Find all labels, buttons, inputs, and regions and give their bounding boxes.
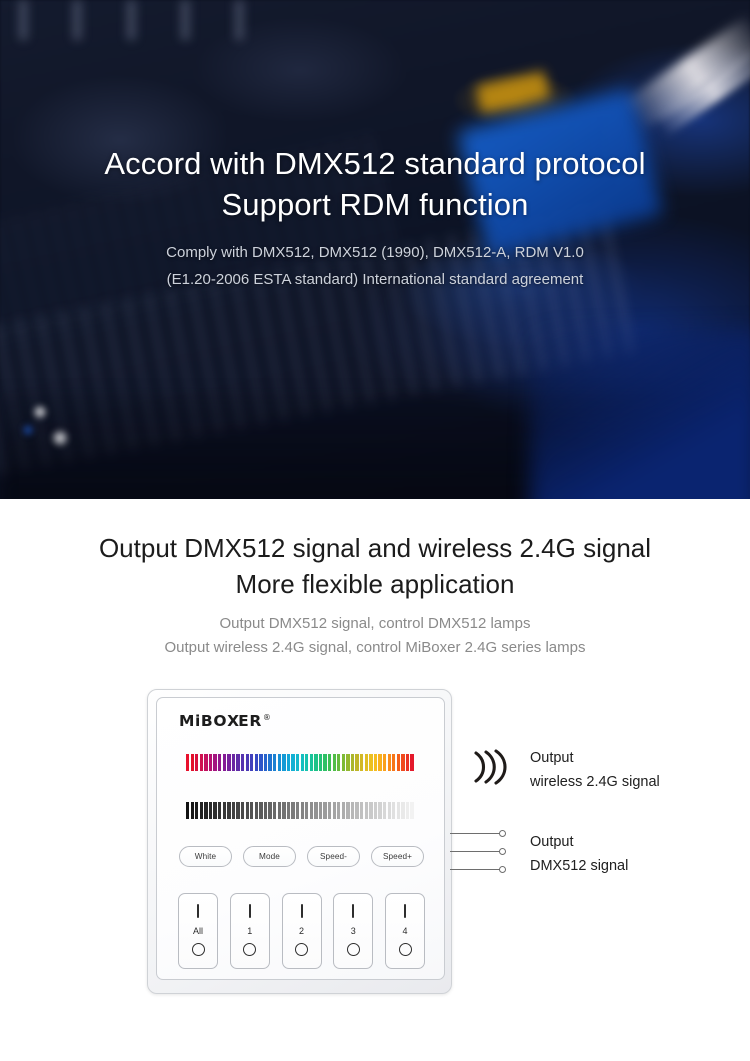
zone-button-row: All 1 2 [178, 893, 425, 969]
brightness-swatch[interactable] [232, 802, 235, 819]
color-swatch[interactable] [392, 754, 395, 771]
brightness-swatch[interactable] [264, 802, 267, 819]
brightness-swatch[interactable] [360, 802, 363, 819]
speed-down-button[interactable]: Speed- [307, 846, 360, 867]
power-off-circle-icon [243, 943, 256, 956]
brightness-swatch[interactable] [301, 802, 304, 819]
brightness-swatch[interactable] [259, 802, 262, 819]
callout-wireless-line-2: wireless 2.4G signal [530, 770, 660, 794]
section2-subtitle: Output DMX512 signal, control DMX512 lam… [0, 612, 750, 660]
wireless-signal-icon [470, 747, 512, 787]
color-swatch[interactable] [191, 754, 194, 771]
color-swatch[interactable] [250, 754, 253, 771]
zone-button-1[interactable]: 1 [230, 893, 270, 969]
color-swatch[interactable] [264, 754, 267, 771]
color-swatch[interactable] [282, 754, 285, 771]
hero-title: Accord with DMX512 standard protocol Sup… [0, 143, 750, 225]
color-swatch[interactable] [186, 754, 189, 771]
color-swatch[interactable] [287, 754, 290, 771]
color-swatch[interactable] [328, 754, 331, 771]
brightness-swatch[interactable] [328, 802, 331, 819]
brightness-swatch[interactable] [195, 802, 198, 819]
zone-label-4: 4 [402, 926, 407, 936]
color-swatch[interactable] [241, 754, 244, 771]
callout-wireless-output: Output wireless 2.4G signal [530, 746, 660, 794]
power-off-circle-icon [192, 943, 205, 956]
brightness-selection-strip[interactable] [186, 802, 415, 819]
hero-text-block: Accord with DMX512 standard protocol Sup… [0, 0, 750, 293]
color-swatch[interactable] [406, 754, 409, 771]
brightness-swatch[interactable] [351, 802, 354, 819]
color-selection-strip[interactable] [186, 754, 415, 771]
hero-indicator-lights [18, 400, 88, 455]
color-swatch[interactable] [278, 754, 281, 771]
brightness-swatch[interactable] [406, 802, 409, 819]
product-page: Accord with DMX512 standard protocol Sup… [0, 0, 750, 1061]
dmx-wire-connectors [450, 829, 520, 885]
color-swatch[interactable] [227, 754, 230, 771]
brightness-swatch[interactable] [337, 802, 340, 819]
color-swatch[interactable] [273, 754, 276, 771]
white-button[interactable]: White [179, 846, 232, 867]
color-swatch[interactable] [314, 754, 317, 771]
brightness-swatch[interactable] [282, 802, 285, 819]
color-swatch[interactable] [365, 754, 368, 771]
brightness-swatch[interactable] [401, 802, 404, 819]
color-swatch[interactable] [268, 754, 271, 771]
brightness-swatch[interactable] [392, 802, 395, 819]
color-swatch[interactable] [355, 754, 358, 771]
dmx-wire-2 [450, 851, 500, 852]
power-on-bar-icon [301, 904, 303, 918]
speed-up-button-label: Speed+ [383, 852, 412, 861]
callout-dmx-line-2: DMX512 signal [530, 854, 628, 878]
brightness-swatch[interactable] [209, 802, 212, 819]
color-swatch[interactable] [291, 754, 294, 771]
color-swatch[interactable] [213, 754, 216, 771]
device-diagram: MiBOXER® White Mode Speed- Speed+ All [0, 689, 750, 1009]
brightness-swatch[interactable] [186, 802, 189, 819]
brightness-swatch[interactable] [227, 802, 230, 819]
color-swatch[interactable] [383, 754, 386, 771]
brightness-swatch[interactable] [342, 802, 345, 819]
color-swatch[interactable] [410, 754, 413, 771]
dmx-wire-3 [450, 869, 500, 870]
callout-wireless-line-1: Output [530, 746, 660, 770]
miboxer-wall-panel: MiBOXER® White Mode Speed- Speed+ All [147, 689, 452, 994]
miboxer-logo: MiBOXER® [179, 712, 271, 730]
zone-button-4[interactable]: 4 [385, 893, 425, 969]
section2-subtitle-line-2: Output wireless 2.4G signal, control MiB… [164, 639, 585, 656]
output-signal-section: Output DMX512 signal and wireless 2.4G s… [0, 499, 750, 1061]
section2-title-line-1: Output DMX512 signal and wireless 2.4G s… [99, 533, 651, 563]
color-swatch[interactable] [232, 754, 235, 771]
function-button-row: White Mode Speed- Speed+ [179, 846, 424, 867]
brightness-swatch[interactable] [383, 802, 386, 819]
color-swatch[interactable] [296, 754, 299, 771]
color-swatch[interactable] [369, 754, 372, 771]
color-swatch[interactable] [397, 754, 400, 771]
color-swatch[interactable] [401, 754, 404, 771]
color-swatch[interactable] [195, 754, 198, 771]
brightness-swatch[interactable] [255, 802, 258, 819]
speed-up-button[interactable]: Speed+ [371, 846, 424, 867]
brightness-swatch[interactable] [305, 802, 308, 819]
power-on-bar-icon [197, 904, 199, 918]
color-swatch[interactable] [346, 754, 349, 771]
brightness-swatch[interactable] [355, 802, 358, 819]
color-swatch[interactable] [246, 754, 249, 771]
white-button-label: White [195, 852, 216, 861]
section2-subtitle-line-1: Output DMX512 signal, control DMX512 lam… [220, 615, 531, 632]
color-swatch[interactable] [218, 754, 221, 771]
brightness-swatch[interactable] [278, 802, 281, 819]
brightness-swatch[interactable] [319, 802, 322, 819]
brightness-swatch[interactable] [397, 802, 400, 819]
brightness-swatch[interactable] [296, 802, 299, 819]
brightness-swatch[interactable] [314, 802, 317, 819]
brightness-swatch[interactable] [410, 802, 413, 819]
color-swatch[interactable] [223, 754, 226, 771]
callout-dmx-output: Output DMX512 signal [530, 830, 628, 878]
panel-inner-frame: MiBOXER® White Mode Speed- Speed+ All [156, 697, 445, 980]
color-swatch[interactable] [319, 754, 322, 771]
hero-blue-corner-glow [530, 329, 750, 499]
power-off-circle-icon [347, 943, 360, 956]
hero-subtitle-line-2: (E1.20-2006 ESTA standard) International… [167, 271, 584, 288]
callout-dmx-line-1: Output [530, 830, 628, 854]
brightness-swatch[interactable] [369, 802, 372, 819]
brightness-swatch[interactable] [287, 802, 290, 819]
zone-label-2: 2 [299, 926, 304, 936]
logo-registered-mark: ® [263, 713, 272, 722]
color-swatch[interactable] [351, 754, 354, 771]
color-swatch[interactable] [378, 754, 381, 771]
brightness-swatch[interactable] [365, 802, 368, 819]
brightness-swatch[interactable] [346, 802, 349, 819]
color-swatch[interactable] [337, 754, 340, 771]
brightness-swatch[interactable] [388, 802, 391, 819]
brightness-swatch[interactable] [204, 802, 207, 819]
color-swatch[interactable] [236, 754, 239, 771]
color-swatch[interactable] [301, 754, 304, 771]
brightness-swatch[interactable] [250, 802, 253, 819]
brightness-swatch[interactable] [323, 802, 326, 819]
power-off-circle-icon [399, 943, 412, 956]
speed-down-button-label: Speed- [320, 852, 347, 861]
color-swatch[interactable] [333, 754, 336, 771]
power-on-bar-icon [404, 904, 406, 918]
color-swatch[interactable] [388, 754, 391, 771]
color-swatch[interactable] [255, 754, 258, 771]
zone-button-2[interactable]: 2 [282, 893, 322, 969]
color-swatch[interactable] [259, 754, 262, 771]
zone-label-1: 1 [247, 926, 252, 936]
hero-title-line-1: Accord with DMX512 standard protocol [104, 146, 645, 181]
brightness-swatch[interactable] [378, 802, 381, 819]
power-off-circle-icon [295, 943, 308, 956]
color-swatch[interactable] [200, 754, 203, 771]
color-swatch[interactable] [204, 754, 207, 771]
brightness-swatch[interactable] [218, 802, 221, 819]
brightness-swatch[interactable] [333, 802, 336, 819]
color-swatch[interactable] [209, 754, 212, 771]
hero-title-line-2: Support RDM function [222, 187, 529, 222]
mode-button-label: Mode [259, 852, 280, 861]
logo-x-glyph: X [227, 712, 238, 730]
logo-text-part1: MiBO [179, 712, 227, 730]
zone-button-3[interactable]: 3 [333, 893, 373, 969]
mode-button[interactable]: Mode [243, 846, 296, 867]
zone-label-3: 3 [351, 926, 356, 936]
dmx-terminal-3 [499, 866, 506, 873]
brightness-swatch[interactable] [191, 802, 194, 819]
zone-label-all: All [193, 926, 203, 936]
power-on-bar-icon [352, 904, 354, 918]
color-swatch[interactable] [342, 754, 345, 771]
brightness-swatch[interactable] [374, 802, 377, 819]
power-on-bar-icon [249, 904, 251, 918]
hero-subtitle-line-1: Comply with DMX512, DMX512 (1990), DMX51… [166, 244, 584, 261]
hero-subtitle: Comply with DMX512, DMX512 (1990), DMX51… [0, 239, 750, 293]
dmx-terminal-2 [499, 848, 506, 855]
brightness-swatch[interactable] [213, 802, 216, 819]
brightness-swatch[interactable] [246, 802, 249, 819]
color-swatch[interactable] [310, 754, 313, 771]
brightness-swatch[interactable] [268, 802, 271, 819]
section2-title: Output DMX512 signal and wireless 2.4G s… [0, 499, 750, 602]
color-swatch[interactable] [360, 754, 363, 771]
brightness-swatch[interactable] [200, 802, 203, 819]
brightness-swatch[interactable] [291, 802, 294, 819]
hero-section: Accord with DMX512 standard protocol Sup… [0, 0, 750, 499]
color-swatch[interactable] [374, 754, 377, 771]
dmx-wire-1 [450, 833, 500, 834]
dmx-terminal-1 [499, 830, 506, 837]
section2-title-line-2: More flexible application [236, 569, 515, 599]
color-swatch[interactable] [323, 754, 326, 771]
brightness-swatch[interactable] [236, 802, 239, 819]
brightness-swatch[interactable] [223, 802, 226, 819]
brightness-swatch[interactable] [310, 802, 313, 819]
color-swatch[interactable] [305, 754, 308, 771]
brightness-swatch[interactable] [241, 802, 244, 819]
logo-text-part2: ER [238, 712, 262, 730]
brightness-swatch[interactable] [273, 802, 276, 819]
zone-button-all[interactable]: All [178, 893, 218, 969]
